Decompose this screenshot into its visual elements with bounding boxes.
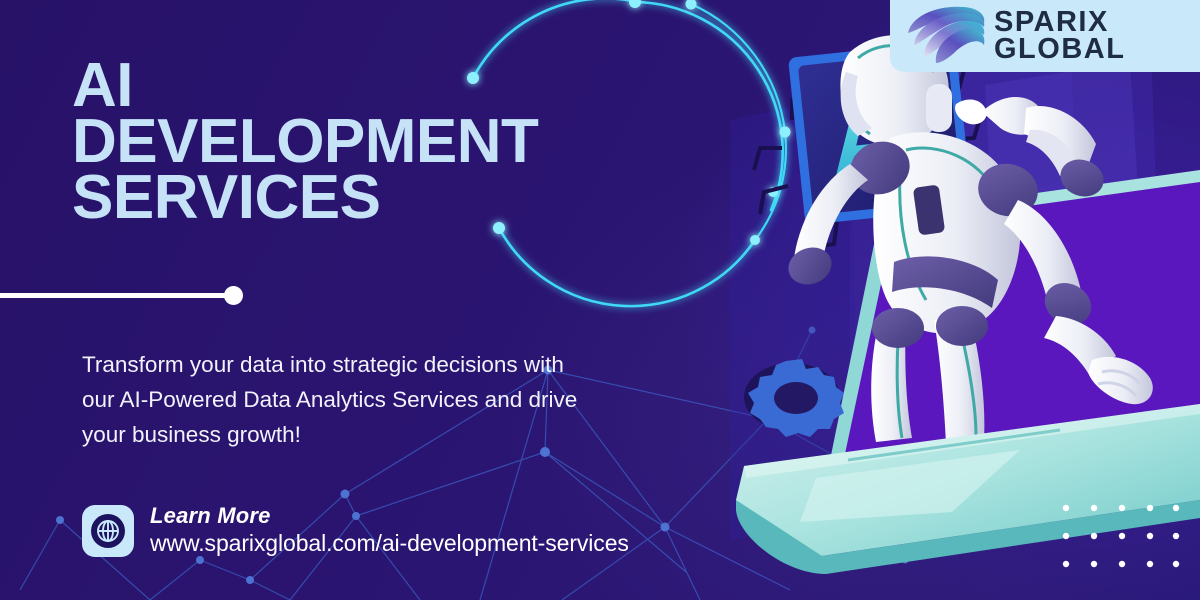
headline-line-2: DEVELOPMENT [72,114,712,170]
accent-rule [0,293,232,298]
accent-rule-dot [224,286,243,305]
body-line-3: your business growth! [82,418,692,453]
page-title: AI DEVELOPMENT SERVICES [72,58,712,225]
swirl-globe-mark [902,5,988,67]
subheading-paragraph: Transform your data into strategic decis… [82,348,692,453]
background-panels [730,0,1200,600]
ai-robot-illustration: AI [730,0,1200,600]
body-line-1: Transform your data into strategic decis… [82,348,692,383]
gear-icon [744,359,844,437]
svg-text:AI: AI [824,77,937,197]
learn-more-cta[interactable]: Learn More www.sparixglobal.com/ai-devel… [82,503,629,558]
logo-line-2: GLOBAL [994,36,1125,63]
laptop [736,404,1200,574]
ai-development-services-banner: AI [0,0,1200,600]
dot-grid-decoration [1060,502,1180,578]
cta-title: Learn More [150,503,629,529]
robot-figure [783,35,1153,444]
logo-line-1: SPARIX [994,9,1125,36]
cta-url[interactable]: www.sparixglobal.com/ai-development-serv… [150,529,629,558]
headline-line-1: AI [72,58,712,114]
body-line-2: our AI-Powered Data Analytics Services a… [82,383,692,418]
brand-logo[interactable]: SPARIX GLOBAL [890,0,1200,72]
headline-line-3: SERVICES [72,170,712,226]
globe-icon [82,505,134,557]
